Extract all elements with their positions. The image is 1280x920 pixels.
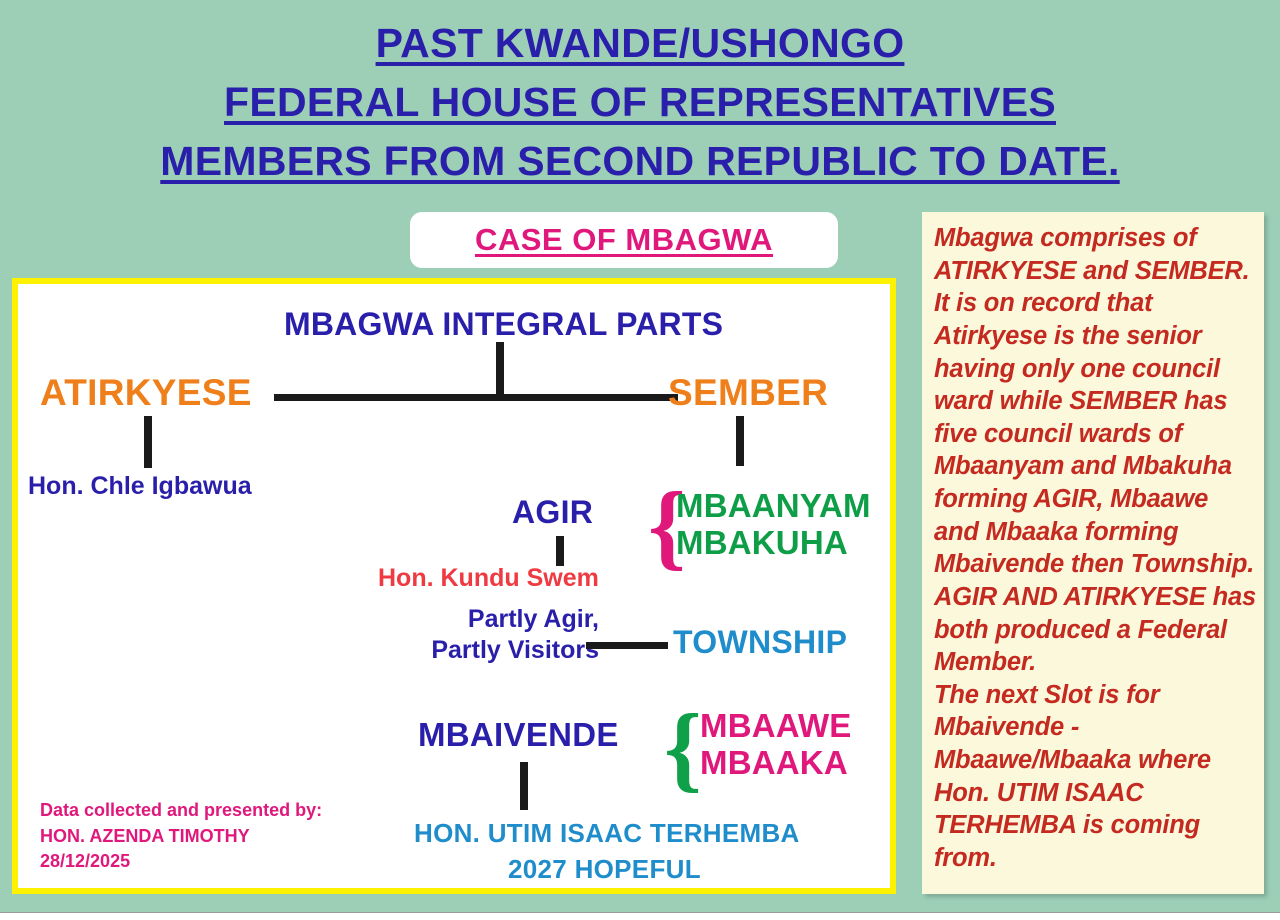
node-mbaivende: MBAIVENDE — [418, 718, 619, 751]
credits-line-2: HON. AZENDA TIMOTHY — [40, 826, 250, 846]
township-note-line-1: Partly Agir, — [468, 605, 599, 633]
mbagwa-tree-diagram: MBAGWA INTEGRAL PARTS ATIRKYESE SEMBER H… — [12, 278, 896, 894]
mbaivende-ward-mbaaka: MBAAKA — [700, 744, 848, 781]
node-hon-utim-isaac-terhemba: HON. UTIM ISAAC TERHEMBA — [414, 820, 800, 846]
case-of-mbagwa-banner: CASE OF MBAGWA — [410, 212, 838, 268]
explanatory-note-panel: Mbagwa comprises of ATIRKYESE and SEMBER… — [922, 212, 1264, 894]
node-sember: SEMBER — [668, 374, 828, 411]
bottom-white-strip — [0, 912, 1280, 920]
mbaivende-brace-icon: { — [664, 702, 702, 794]
sember-stem-connector — [736, 416, 744, 466]
root-stem-connector — [496, 342, 504, 398]
title-line-1: PAST KWANDE/USHONGO — [376, 14, 905, 73]
credits-block: Data collected and presented by:HON. AZE… — [40, 798, 322, 875]
credits-line-1: Data collected and presented by: — [40, 800, 322, 820]
mbaivende-ward-mbaawe: MBAAWE — [700, 707, 852, 744]
node-atirkyese: ATIRKYESE — [40, 374, 252, 411]
agir-ward-mbakuha: MBAKUHA — [676, 524, 848, 561]
township-connector — [586, 642, 668, 649]
credits-line-3: 28/12/2025 — [40, 851, 130, 871]
tree-root-label: MBAGWA INTEGRAL PARTS — [284, 308, 723, 340]
mbaivende-stem-connector — [520, 762, 528, 810]
root-horizontal-connector — [274, 394, 678, 401]
node-hon-kundu-swem: Hon. Kundu Swem — [378, 566, 599, 591]
township-note: Partly Agir,Partly Visitors — [399, 604, 599, 667]
node-2027-hopeful: 2027 HOPEFUL — [508, 856, 701, 882]
agir-council-wards: MBAANYAMMBAKUHA — [676, 488, 871, 562]
node-hon-chle-igbawua: Hon. Chle Igbawua — [28, 474, 252, 499]
poster-canvas: PAST KWANDE/USHONGO FEDERAL HOUSE OF REP… — [0, 0, 1280, 912]
agir-ward-mbaanyam: MBAANYAM — [676, 487, 871, 524]
township-note-line-2: Partly Visitors — [431, 636, 599, 664]
explanatory-note-text: Mbagwa comprises of ATIRKYESE and SEMBER… — [934, 222, 1256, 875]
title-line-3: MEMBERS FROM SECOND REPUBLIC TO DATE. — [160, 132, 1119, 191]
mbaivende-council-wards: MBAAWEMBAAKA — [700, 708, 852, 782]
poster-title: PAST KWANDE/USHONGO FEDERAL HOUSE OF REP… — [0, 14, 1280, 191]
agir-stem-connector — [556, 536, 564, 566]
node-agir: AGIR — [512, 496, 593, 528]
node-township: TOWNSHIP — [673, 626, 847, 658]
atirkyese-stem-connector — [144, 416, 152, 468]
case-of-mbagwa-label: CASE OF MBAGWA — [475, 222, 773, 258]
title-line-2: FEDERAL HOUSE OF REPRESENTATIVES — [224, 73, 1056, 132]
